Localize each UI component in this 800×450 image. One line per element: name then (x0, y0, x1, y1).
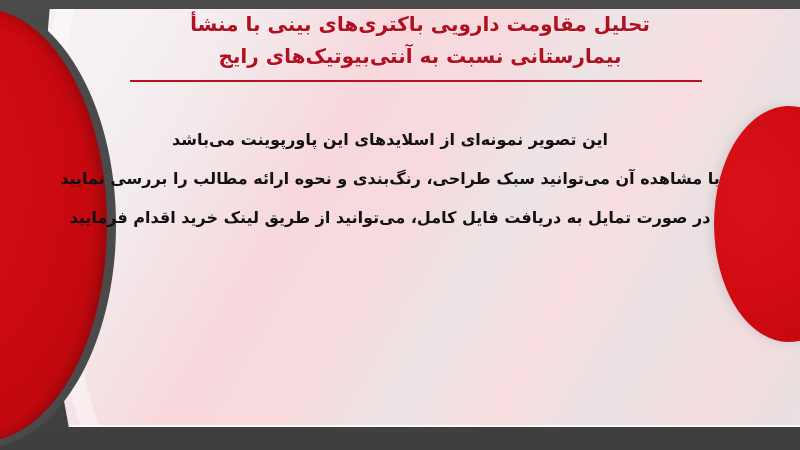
slide-title-line-2: بیمارستانی نسبت به آنتی‌بیوتیک‌های رایج (120, 40, 720, 72)
slide-title-underline (130, 80, 702, 82)
slide-body-line-1: این تصویر نمونه‌ای از اسلایدهای این پاور… (60, 120, 720, 159)
slide-body-text: این تصویر نمونه‌ای از اسلایدهای این پاور… (60, 120, 720, 237)
slide-body-line-3: در صورت تمایل به دریافت فایل کامل، می‌تو… (60, 198, 720, 237)
slide-title: تحلیل مقاومت دارویی باکتری‌های بینی با م… (120, 8, 720, 72)
panel-bottom-highlight (0, 425, 800, 427)
slide-title-line-1: تحلیل مقاومت دارویی باکتری‌های بینی با م… (120, 8, 720, 40)
slide-body-line-2: با مشاهده آن می‌توانید سبک طراحی، رنگ‌بن… (60, 159, 720, 198)
slide-canvas: تحلیل مقاومت دارویی باکتری‌های بینی با م… (0, 0, 800, 450)
